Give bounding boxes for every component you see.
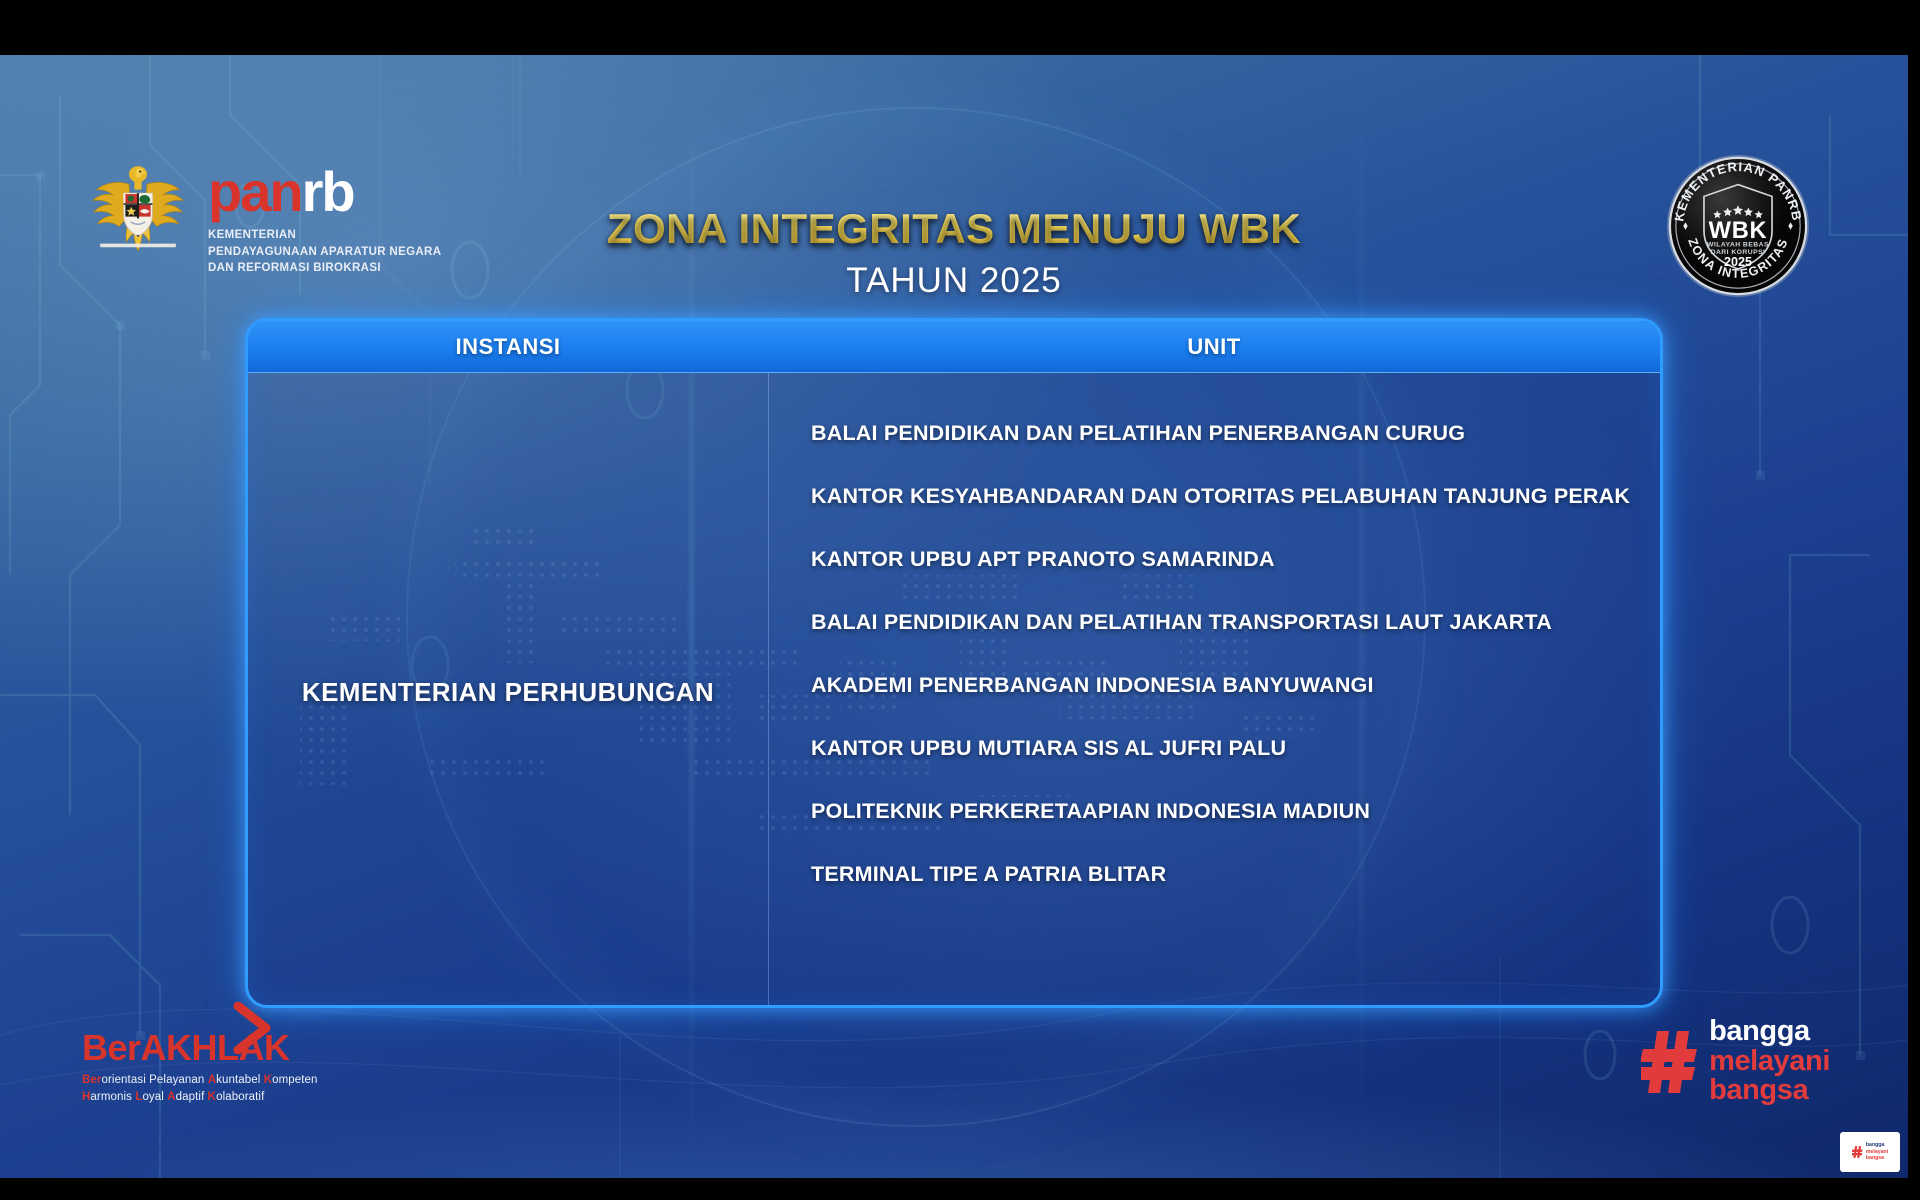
- chevron-right-icon: [232, 1002, 278, 1054]
- column-header-unit: UNIT: [768, 334, 1660, 360]
- letterbox-bar-top: [0, 0, 1920, 55]
- list-item: AKADEMI PENERBANGAN INDONESIA BANYUWANGI: [811, 673, 1660, 698]
- slide-stage: panrb KEMENTERIAN PENDAYAGUNAAN APARATUR…: [0, 0, 1920, 1200]
- corner-watermark-badge: bangga melayani bangsa: [1840, 1132, 1900, 1172]
- bangga-melayani-bangsa-logo: bangga melayani bangsa: [1641, 1017, 1830, 1106]
- instansi-name: KEMENTERIAN PERHUBUNGAN: [302, 677, 714, 708]
- wbk-shield-sub1-text: WILAYAH BEBAS: [1707, 242, 1769, 249]
- unit-list: BALAI PENDIDIKAN DAN PELATIHAN PENERBANG…: [769, 373, 1660, 1008]
- watermark-line-3: bangsa: [1866, 1155, 1888, 1162]
- page-title: ZONA INTEGRITAS MENUJU WBK: [607, 205, 1301, 253]
- bangga-line-3: bangsa: [1709, 1076, 1830, 1106]
- letterbox-bar-right: [1908, 0, 1920, 1200]
- list-item: BALAI PENDIDIKAN DAN PELATIHAN TRANSPORT…: [811, 610, 1660, 635]
- berakhlak-tagline: Berorientasi Pelayanan Akuntabel Kompete…: [82, 1072, 342, 1107]
- list-item: BALAI PENDIDIKAN DAN PELATIHAN PENERBANG…: [811, 421, 1660, 446]
- column-header-instansi: INSTANSI: [248, 334, 768, 360]
- hashtag-icon: [1641, 1029, 1699, 1095]
- wbk-shield-year-text: 2025: [1724, 255, 1752, 269]
- wbk-shield-main-text: WBK: [1709, 218, 1768, 244]
- list-item: KANTOR UPBU APT PRANOTO SAMARINDA: [811, 547, 1660, 572]
- table-body: KEMENTERIAN PERHUBUNGAN BALAI PENDIDIKAN…: [248, 373, 1660, 1008]
- bangga-line-1: bangga: [1709, 1017, 1830, 1047]
- title-block: ZONA INTEGRITAS MENUJU WBK TAHUN 2025: [0, 55, 1908, 301]
- list-item: KANTOR KESYAHBANDARAN DAN OTORITAS PELAB…: [811, 484, 1660, 509]
- slide-canvas: panrb KEMENTERIAN PENDAYAGUNAAN APARATUR…: [0, 55, 1908, 1178]
- instansi-cell: KEMENTERIAN PERHUBUNGAN: [248, 373, 768, 1008]
- berakhlak-logo: BerAKHLAK Berorientasi Pelayanan Akuntab…: [82, 1030, 342, 1107]
- berakhlak-tagline-line-2: Harmonis Loyal Adaptif Kolaboratif: [82, 1089, 342, 1106]
- list-item: TERMINAL TIPE A PATRIA BLITAR: [811, 862, 1660, 887]
- table-header-row: INSTANSI UNIT: [248, 321, 1660, 373]
- data-panel: INSTANSI UNIT KEMENTERIAN PERHUBUNGAN BA…: [245, 318, 1663, 1008]
- list-item: KANTOR UPBU MUTIARA SIS AL JUFRI PALU: [811, 736, 1660, 761]
- bangga-line-2: melayani: [1709, 1047, 1830, 1077]
- berakhlak-tagline-line-1: Berorientasi Pelayanan Akuntabel Kompete…: [82, 1072, 342, 1089]
- page-subtitle: TAHUN 2025: [0, 261, 1908, 301]
- hashtag-icon: [1852, 1145, 1863, 1159]
- wbk-seal-icon: KEMENTERIAN PANRB ZONA INTEGRITAS WBK: [1664, 152, 1812, 300]
- letterbox-bar-bottom: [0, 1178, 1920, 1200]
- list-item: POLITEKNIK PERKERETAAPIAN INDONESIA MADI…: [811, 799, 1660, 824]
- slide-header: panrb KEMENTERIAN PENDAYAGUNAAN APARATUR…: [0, 55, 1908, 295]
